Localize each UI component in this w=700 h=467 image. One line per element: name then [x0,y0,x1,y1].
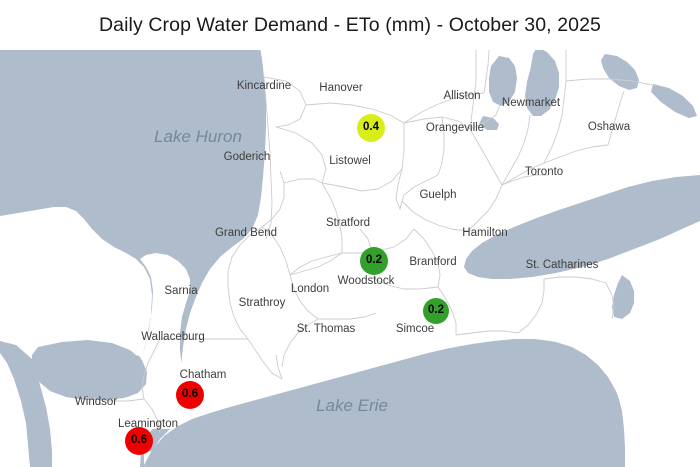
title-bar: Daily Crop Water Demand - ETo (mm) - Oct… [0,0,700,50]
eto-map-page: Daily Crop Water Demand - ETo (mm) - Oct… [0,0,700,467]
eto-marker-leamington[interactable]: 0.6 [125,427,153,455]
eto-marker-value: 0.4 [363,122,379,134]
eto-marker-woodstock[interactable]: 0.2 [360,247,388,275]
eto-marker-value: 0.6 [131,435,147,447]
eto-marker-chatham[interactable]: 0.6 [176,381,204,409]
page-title: Daily Crop Water Demand - ETo (mm) - Oct… [99,14,601,37]
eto-marker-value: 0.2 [366,255,382,267]
eto-marker-listowel[interactable]: 0.4 [357,114,385,142]
eto-marker-simcoe[interactable]: 0.2 [423,298,449,324]
eto-marker-value: 0.6 [182,389,198,401]
eto-markers-layer: 0.4 0.2 0.2 0.6 0.6 [0,47,700,467]
eto-marker-value: 0.2 [428,305,444,317]
